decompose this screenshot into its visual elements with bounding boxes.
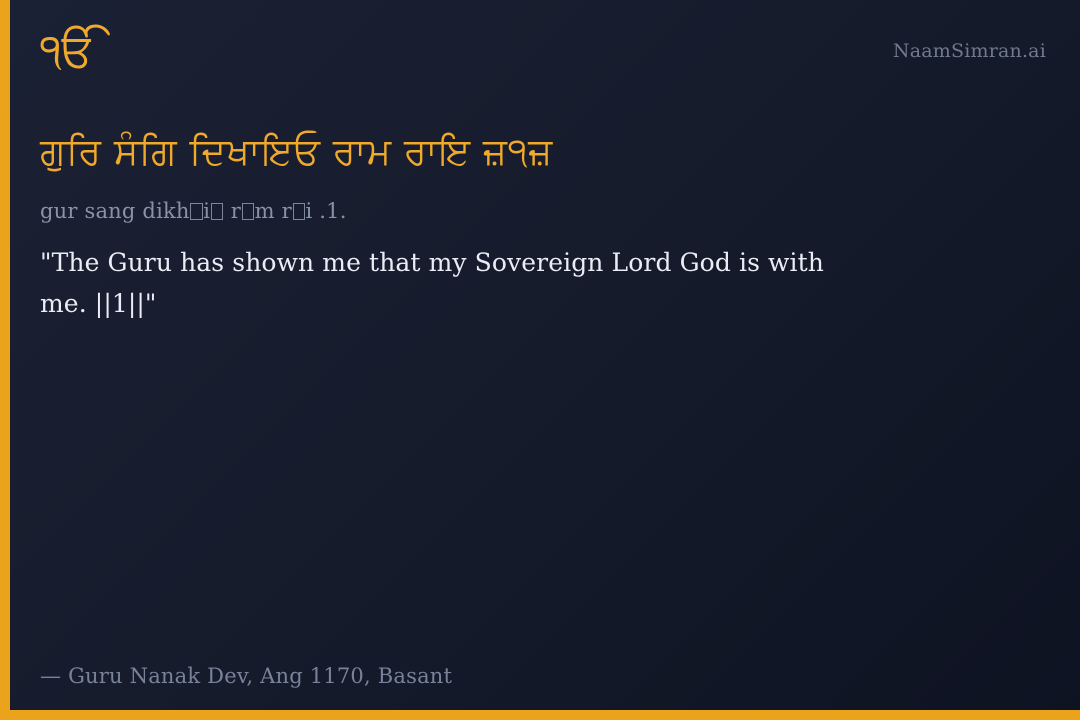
card-header: ੴ NaamSimran.ai (40, 26, 1046, 110)
ik-onkar-icon: ੴ (40, 26, 96, 74)
missing-glyph-box (242, 203, 254, 220)
missing-glyph-box (293, 203, 305, 220)
attribution-label: — Guru Nanak Dev, Ang 1170, Basant (40, 664, 1046, 688)
missing-glyph-box (211, 203, 223, 220)
english-translation: "The Guru has shown me that my Sovereign… (40, 243, 840, 324)
transliteration-line: gur sang dikhi rm ri .1. (40, 197, 940, 225)
scripture-quote-card: ੴ NaamSimran.ai ਗੁਰਿ ਸੰਗਿ ਦਿਖਾਇਓ ਰਾਮ ਰਾਇ… (0, 0, 1080, 720)
missing-glyph-box (190, 203, 202, 220)
verse-block: ਗੁਰਿ ਸੰਗਿ ਦਿਖਾਇਓ ਰਾਮ ਰਾਇ ਜ਼੧ਜ਼ gur sang di… (40, 110, 1046, 664)
accent-bar-left (0, 0, 10, 720)
brand-label: NaamSimran.ai (893, 26, 1046, 62)
gurmukhi-verse: ਗੁਰਿ ਸੰਗਿ ਦਿਖਾਇਓ ਰਾਮ ਰਾਇ ਜ਼੧ਜ਼ (40, 128, 1020, 177)
card-footer: — Guru Nanak Dev, Ang 1170, Basant (40, 664, 1046, 720)
card-content: ੴ NaamSimran.ai ਗੁਰਿ ਸੰਗਿ ਦਿਖਾਇਓ ਰਾਮ ਰਾਇ… (10, 0, 1080, 720)
